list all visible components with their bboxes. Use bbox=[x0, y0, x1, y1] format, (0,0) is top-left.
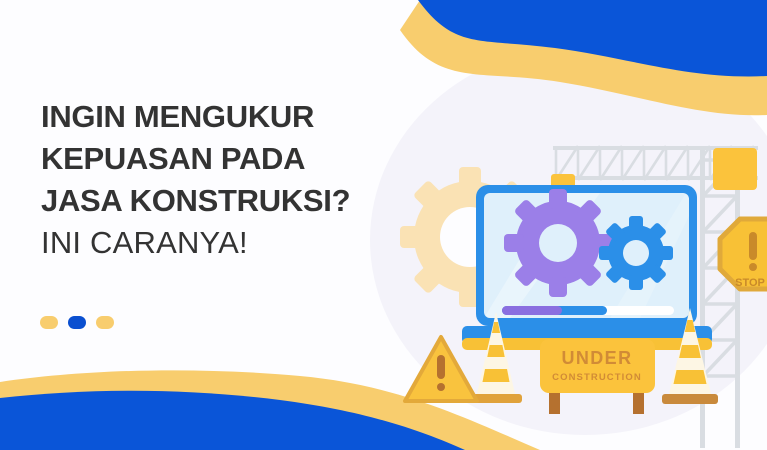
carousel-dot-2[interactable] bbox=[68, 316, 86, 329]
stop-sign-label: STOP bbox=[735, 277, 765, 289]
gear-blue-icon bbox=[599, 216, 673, 290]
crane-truss-beam bbox=[551, 146, 758, 190]
carousel-dot-3[interactable] bbox=[96, 316, 114, 329]
gear-purple-icon bbox=[504, 189, 612, 297]
sign-text-under: UNDER bbox=[561, 348, 632, 368]
headline-block: INGIN MENGUKUR KEPUASAN PADA JASA KONSTR… bbox=[41, 96, 441, 264]
headline-line-1: INGIN MENGUKUR bbox=[41, 96, 441, 138]
promo-banner: INGIN MENGUKUR KEPUASAN PADA JASA KONSTR… bbox=[0, 0, 767, 450]
sign-text-construction: CONSTRUCTION bbox=[552, 372, 642, 383]
headline-line-4: INI CARANYA! bbox=[41, 222, 441, 264]
under-construction-sign: UNDER CONSTRUCTION bbox=[540, 339, 655, 414]
headline-line-3: JASA KONSTRUKSI? bbox=[41, 180, 441, 222]
stop-sign-icon: STOP bbox=[720, 219, 767, 289]
headline-line-2: KEPUASAN PADA bbox=[41, 138, 441, 180]
carousel-dot-1[interactable] bbox=[40, 316, 58, 329]
crane-load-box bbox=[713, 148, 757, 190]
carousel-dots[interactable] bbox=[40, 316, 114, 329]
progress-bar bbox=[502, 306, 674, 315]
